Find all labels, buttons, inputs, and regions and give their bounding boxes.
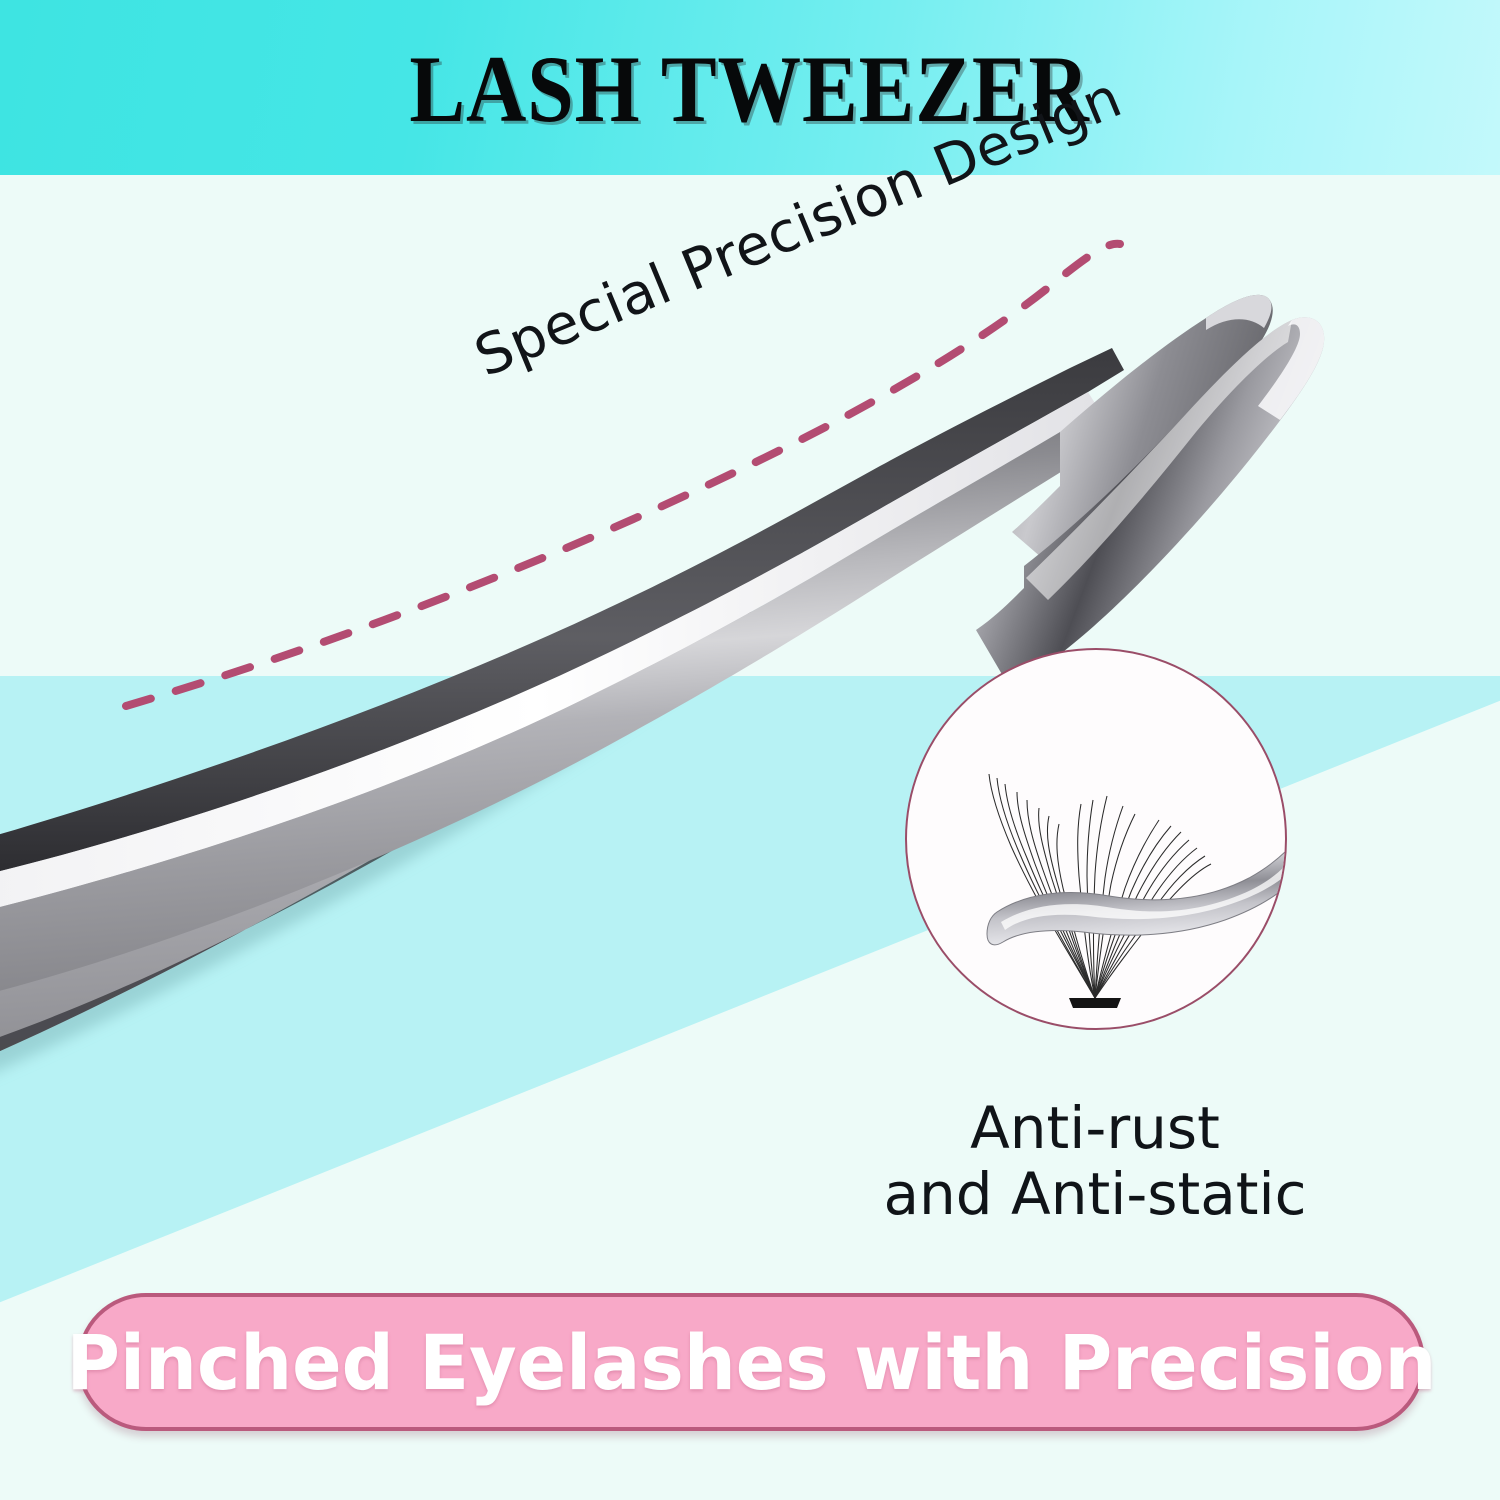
- anti-rust-line-1: Anti-rust: [830, 1095, 1360, 1161]
- anti-rust-line-2: and Anti-static: [830, 1161, 1360, 1227]
- anti-rust-caption: Anti-rust and Anti-static: [830, 1095, 1360, 1227]
- bottom-tagline-banner: Pinched Eyelashes with Precision: [77, 1293, 1425, 1431]
- bottom-tagline-text: Pinched Eyelashes with Precision: [66, 1318, 1436, 1407]
- product-marketing-image: LASH TWEEZER: [0, 0, 1500, 1500]
- header-band: LASH TWEEZER: [0, 0, 1500, 175]
- lash-fan-illustration: [907, 650, 1285, 1028]
- lash-detail-circle: [905, 648, 1287, 1030]
